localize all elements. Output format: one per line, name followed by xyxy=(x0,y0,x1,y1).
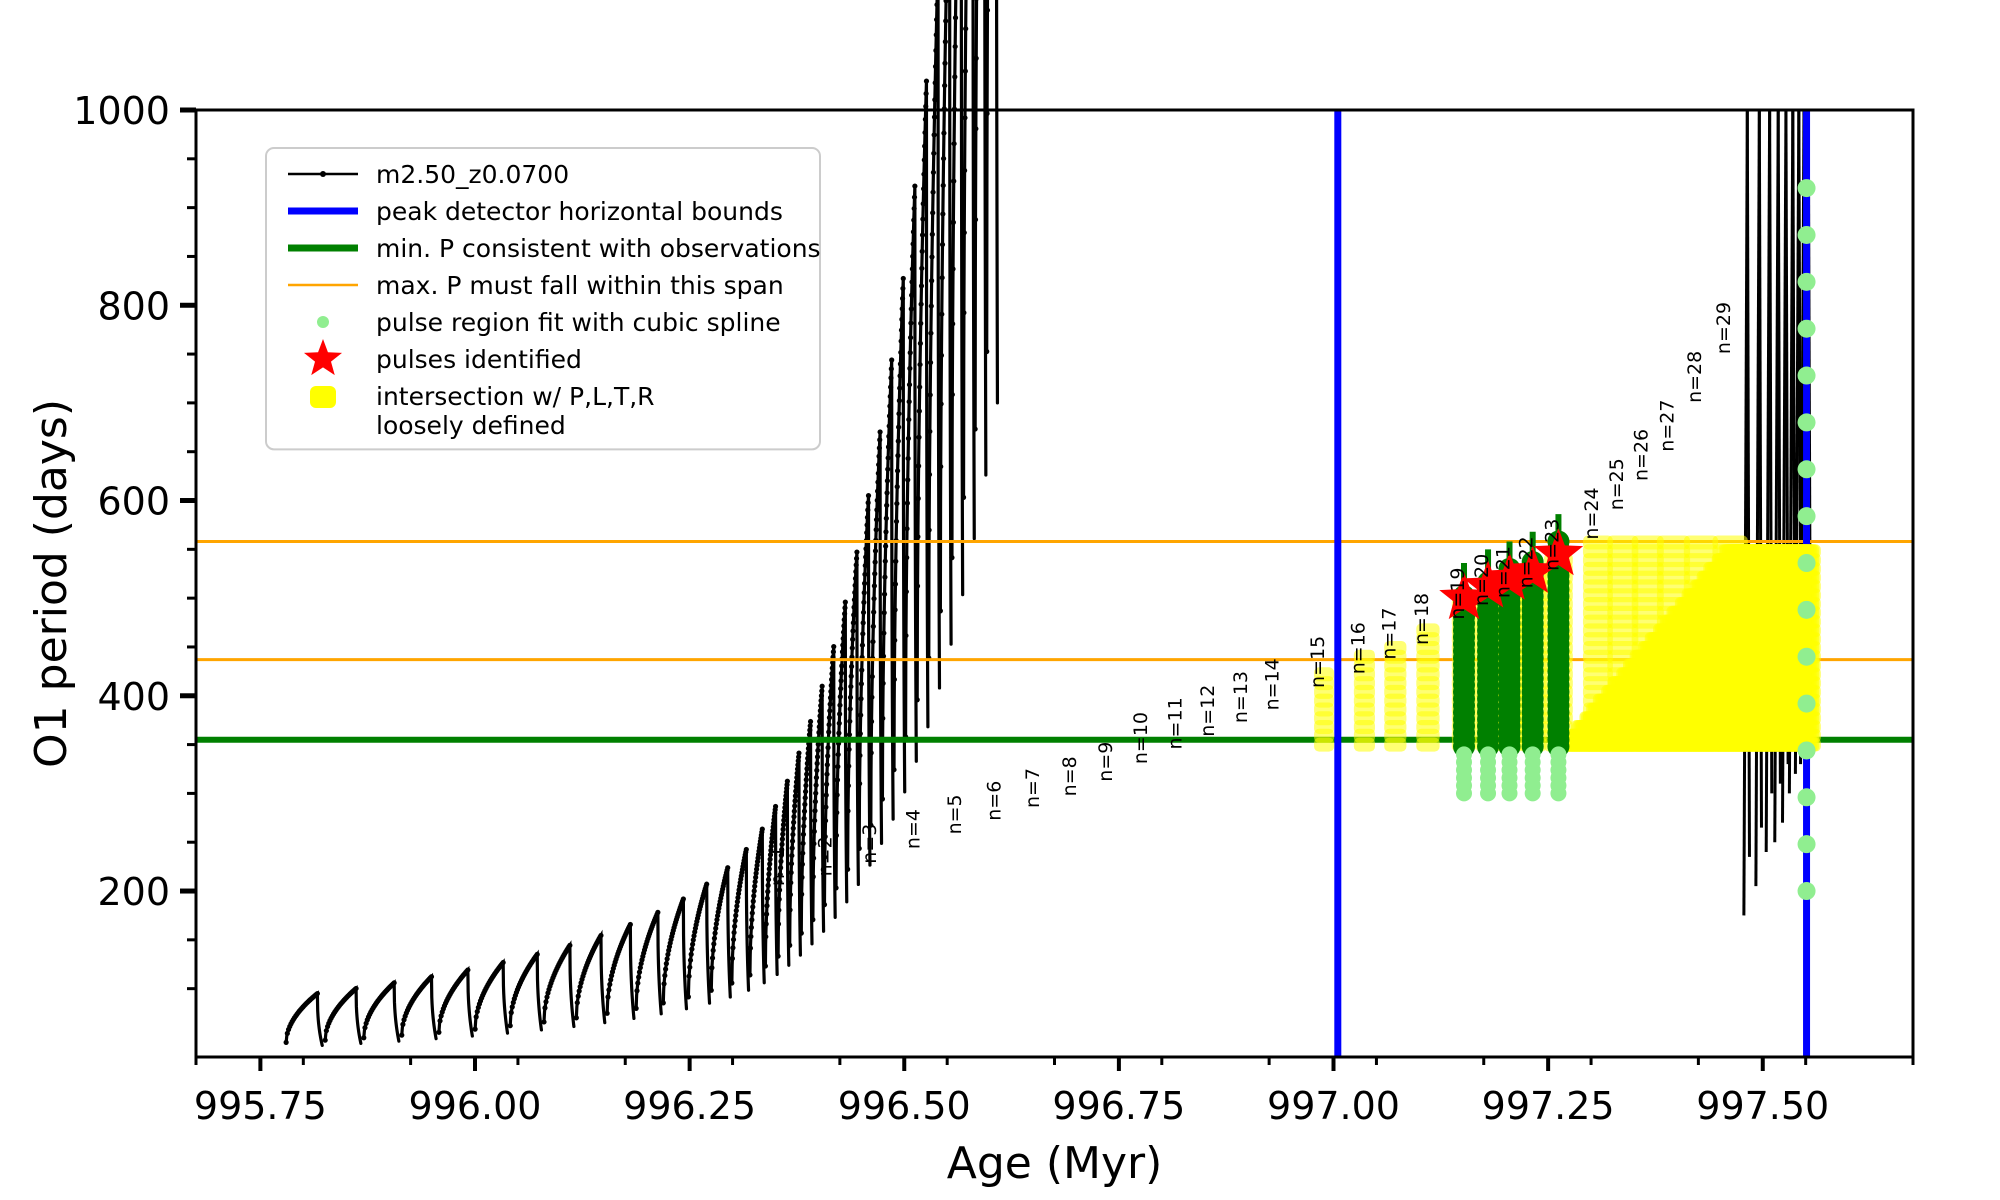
data-point-dot xyxy=(933,80,938,85)
y-axis-title: O1 period (days) xyxy=(26,399,77,768)
data-point-dot xyxy=(907,399,912,404)
data-point-dot xyxy=(823,818,828,823)
data-point-dot xyxy=(732,924,737,929)
data-point-dot xyxy=(984,111,989,116)
data-point-dot xyxy=(920,217,925,222)
data-point-dot xyxy=(853,569,858,574)
data-point-dot xyxy=(711,941,716,946)
spline-fit-point xyxy=(1798,835,1816,853)
data-point-dot xyxy=(846,763,851,768)
spline-fit-point xyxy=(1798,367,1816,385)
data-point-dot xyxy=(636,975,641,980)
data-point-dot xyxy=(853,583,858,588)
data-point-dot xyxy=(921,186,926,191)
data-point-dot xyxy=(909,306,914,311)
data-point-dot xyxy=(846,783,851,788)
data-point-dot xyxy=(838,694,843,699)
data-point-dot xyxy=(731,937,736,942)
spline-fit-point xyxy=(1798,554,1816,572)
data-point-dot xyxy=(763,963,768,968)
data-point-dot xyxy=(984,349,989,354)
data-point-dot xyxy=(881,654,886,659)
data-point-dot xyxy=(927,472,932,477)
data-point-dot xyxy=(930,210,935,215)
data-point-dot xyxy=(928,360,933,365)
data-point-dot xyxy=(710,955,715,960)
data-point-dot xyxy=(796,750,801,755)
data-point-dot xyxy=(763,934,768,939)
data-point-dot xyxy=(836,730,841,735)
data-point-dot xyxy=(876,471,881,476)
data-point-dot xyxy=(909,293,914,298)
data-point-dot xyxy=(951,220,956,225)
data-point-dot xyxy=(789,861,794,866)
data-point-dot xyxy=(843,600,848,605)
data-point-dot xyxy=(871,596,876,601)
chart-canvas: n=1n=2n=3n=4n=5n=6n=7n=8n=9n=10n=11n=12n… xyxy=(0,0,2000,1200)
data-point-dot xyxy=(898,350,903,355)
data-point-dot xyxy=(852,597,857,602)
pulse-number-label: n=25 xyxy=(1606,458,1628,510)
spline-fit-point xyxy=(1798,882,1816,900)
pulse-number-label: n=20 xyxy=(1471,554,1493,606)
data-point-dot xyxy=(962,230,967,235)
data-point-dot xyxy=(912,183,917,188)
data-point-dot xyxy=(800,851,805,856)
legend-label: max. P must fall within this span xyxy=(376,271,784,300)
data-point-dot xyxy=(916,496,921,501)
data-point-dot xyxy=(896,425,901,430)
data-point-dot xyxy=(961,495,966,500)
data-point-dot xyxy=(928,331,933,336)
data-point-dot xyxy=(928,392,933,397)
data-point-dot xyxy=(885,467,890,472)
data-point-dot xyxy=(875,480,880,485)
data-point-dot xyxy=(893,559,898,564)
data-point-dot xyxy=(896,411,901,416)
data-point-dot xyxy=(765,889,770,894)
data-point-dot xyxy=(917,362,922,367)
data-point-dot xyxy=(789,870,794,875)
data-point-dot xyxy=(859,668,864,673)
pulse-number-label: n=22 xyxy=(1516,536,1538,588)
data-point-dot xyxy=(924,91,929,96)
data-point-dot xyxy=(824,772,829,777)
data-point-dot xyxy=(880,716,885,721)
data-point-dot xyxy=(730,956,735,961)
data-point-dot xyxy=(910,254,915,259)
data-point-dot xyxy=(850,645,855,650)
data-point-dot xyxy=(733,913,738,918)
pulse-number-label: n=10 xyxy=(1130,712,1152,764)
data-point-dot xyxy=(861,600,866,605)
data-point-dot xyxy=(815,761,820,766)
data-point-dot xyxy=(900,306,905,311)
data-point-dot xyxy=(963,26,968,31)
data-point-dot xyxy=(776,921,781,926)
spline-fit-point xyxy=(1480,746,1496,762)
data-point-dot xyxy=(792,803,797,808)
data-point-dot xyxy=(943,39,948,44)
data-point-dot xyxy=(818,703,823,708)
data-point-dot xyxy=(883,559,888,564)
data-point-dot xyxy=(663,967,668,972)
x-tick-label: 997.00 xyxy=(1267,1084,1400,1128)
data-point-dot xyxy=(864,522,869,527)
data-point-dot xyxy=(858,731,863,736)
data-point-dot xyxy=(897,373,902,378)
spline-fit-point xyxy=(1798,788,1816,806)
data-point-dot xyxy=(598,933,603,938)
data-point-dot xyxy=(870,674,875,679)
data-point-dot xyxy=(884,503,889,508)
data-point-dot xyxy=(607,982,612,987)
data-point-dot xyxy=(950,321,955,326)
data-point-dot xyxy=(353,986,358,991)
data-point-dot xyxy=(634,1006,639,1011)
data-point-dot xyxy=(908,350,913,355)
pulse-number-label: n=2 xyxy=(814,836,836,876)
data-point-dot xyxy=(869,719,874,724)
data-point-dot xyxy=(943,18,948,23)
data-point-dot xyxy=(938,464,943,469)
data-point-dot xyxy=(793,789,798,794)
data-point-dot xyxy=(605,994,610,999)
data-point-dot xyxy=(752,884,757,889)
data-point-dot xyxy=(850,637,855,642)
data-point-dot xyxy=(806,746,811,751)
data-point-dot xyxy=(952,141,957,146)
data-point-dot xyxy=(938,608,943,613)
data-point-dot xyxy=(932,97,937,102)
data-point-dot xyxy=(792,809,797,814)
data-point-dot xyxy=(473,1027,478,1032)
data-point-dot xyxy=(882,592,887,597)
data-point-dot xyxy=(851,620,856,625)
pulse-number-label: n=16 xyxy=(1347,622,1369,674)
data-point-dot xyxy=(828,689,833,694)
data-point-dot xyxy=(839,663,844,668)
data-point-dot xyxy=(883,529,888,534)
data-point-dot xyxy=(840,649,845,654)
data-point-dot xyxy=(543,999,548,1004)
pulse-number-label: n=6 xyxy=(983,781,1005,821)
data-point-dot xyxy=(733,918,738,923)
data-point-dot xyxy=(729,980,734,985)
data-point-dot xyxy=(834,810,839,815)
data-point-dot xyxy=(567,943,572,948)
data-point-dot xyxy=(704,882,709,887)
pulse-number-label: n=14 xyxy=(1262,658,1284,710)
data-point-dot xyxy=(889,366,894,371)
data-point-dot xyxy=(542,1005,547,1010)
data-point-dot xyxy=(688,958,693,963)
spline-fit-point xyxy=(1798,695,1816,713)
data-point-dot xyxy=(905,456,910,461)
data-point-dot xyxy=(437,1018,442,1023)
data-point-dot xyxy=(792,798,797,803)
pulse-number-label: n=11 xyxy=(1165,697,1187,749)
data-point-dot xyxy=(922,157,927,162)
data-point-dot xyxy=(873,548,878,553)
legend-label: pulse region fit with cubic spline xyxy=(376,308,781,337)
data-point-dot xyxy=(875,498,880,503)
data-point-dot xyxy=(712,931,717,936)
data-point-dot xyxy=(819,688,824,693)
data-point-dot xyxy=(804,766,809,771)
data-point-dot xyxy=(912,206,917,211)
data-point-dot xyxy=(764,921,769,926)
data-point-dot xyxy=(885,478,890,483)
data-point-dot xyxy=(919,283,924,288)
data-point-dot xyxy=(794,784,799,789)
data-point-dot xyxy=(837,721,842,726)
data-point-dot xyxy=(827,715,832,720)
data-point-dot xyxy=(887,423,892,428)
data-point-dot xyxy=(863,554,868,559)
data-point-dot xyxy=(776,907,781,912)
data-point-dot xyxy=(864,530,869,535)
data-point-dot xyxy=(916,463,921,468)
data-point-dot xyxy=(866,493,871,498)
data-point-dot xyxy=(825,762,830,767)
data-point-dot xyxy=(574,1015,579,1020)
data-point-dot xyxy=(835,792,840,797)
data-point-dot xyxy=(790,839,795,844)
x-tick-label: 996.00 xyxy=(409,1084,542,1128)
legend-label: min. P consistent with observations xyxy=(376,234,821,263)
x-axis-title: Age (Myr) xyxy=(947,1138,1163,1189)
data-point-dot xyxy=(872,583,877,588)
data-point-dot xyxy=(869,695,874,700)
data-point-dot xyxy=(734,908,739,913)
data-point-dot xyxy=(912,195,917,200)
data-point-dot xyxy=(436,1030,441,1035)
spline-fit-point xyxy=(1798,320,1816,338)
data-point-dot xyxy=(576,994,581,999)
x-tick-label: 996.50 xyxy=(838,1084,971,1128)
data-point-dot xyxy=(749,925,754,930)
data-point-dot xyxy=(575,1000,580,1005)
pulse-number-label: n=21 xyxy=(1493,546,1515,598)
y-tick-label: 800 xyxy=(97,284,170,328)
data-point-dot xyxy=(901,276,906,281)
data-point-dot xyxy=(315,991,320,996)
data-point-dot xyxy=(535,952,540,957)
data-point-dot xyxy=(803,795,808,800)
data-point-dot xyxy=(776,954,781,959)
data-point-dot xyxy=(953,44,958,49)
spline-fit-point xyxy=(1798,273,1816,291)
data-point-dot xyxy=(824,782,829,787)
data-point-dot xyxy=(900,286,905,291)
data-point-dot xyxy=(836,752,841,757)
data-point-dot xyxy=(689,952,694,957)
spline-fit-point xyxy=(1798,741,1816,759)
data-point-dot xyxy=(794,779,799,784)
data-point-dot xyxy=(828,702,833,707)
data-point-dot xyxy=(906,417,911,422)
data-point-dot xyxy=(501,960,506,965)
data-point-dot xyxy=(884,516,889,521)
data-point-dot xyxy=(841,636,846,641)
data-point-dot xyxy=(750,910,755,915)
data-point-dot xyxy=(934,32,939,37)
data-point-dot xyxy=(791,820,796,825)
y-tick-label: 400 xyxy=(97,675,170,719)
data-point-dot xyxy=(922,144,927,149)
data-point-dot xyxy=(940,275,945,280)
data-point-dot xyxy=(813,799,818,804)
data-point-dot xyxy=(909,279,914,284)
pulse-number-label: n=27 xyxy=(1656,400,1678,452)
data-point-dot xyxy=(877,437,882,442)
data-point-dot xyxy=(941,156,946,161)
legend-swatch-square xyxy=(310,386,336,408)
data-point-dot xyxy=(362,1025,367,1030)
data-point-dot xyxy=(803,789,808,794)
data-point-dot xyxy=(801,832,806,837)
data-point-dot xyxy=(905,477,910,482)
data-point-dot xyxy=(893,582,898,587)
data-point-dot xyxy=(845,808,850,813)
data-point-dot xyxy=(872,571,877,576)
data-point-dot xyxy=(842,617,847,622)
data-point-dot xyxy=(886,455,891,460)
data-point-dot xyxy=(859,681,864,686)
data-point-dot xyxy=(863,563,868,568)
data-point-dot xyxy=(686,994,691,999)
data-point-dot xyxy=(899,317,904,322)
data-point-dot xyxy=(781,822,786,827)
data-point-dot xyxy=(930,190,935,195)
pulse-number-label: n=1 xyxy=(767,846,789,886)
data-point-dot xyxy=(799,875,804,880)
data-point-dot xyxy=(923,104,928,109)
data-point-dot xyxy=(777,897,782,902)
data-point-dot xyxy=(918,341,923,346)
data-point-dot xyxy=(900,296,905,301)
data-point-dot xyxy=(887,404,892,409)
data-point-dot xyxy=(827,708,832,713)
data-point-dot xyxy=(869,750,874,755)
data-point-dot xyxy=(895,484,900,489)
data-point-dot xyxy=(822,902,827,907)
data-point-dot xyxy=(915,534,920,539)
data-point-dot xyxy=(915,697,920,702)
data-point-dot xyxy=(838,686,843,691)
data-point-dot xyxy=(949,555,954,560)
data-point-dot xyxy=(686,974,691,979)
data-point-dot xyxy=(817,713,822,718)
data-point-dot xyxy=(941,131,946,136)
data-point-dot xyxy=(841,623,846,628)
pulse-number-label: n=23 xyxy=(1541,519,1563,571)
data-point-dot xyxy=(892,677,897,682)
pulse-number-label: n=15 xyxy=(1307,636,1329,688)
data-point-dot xyxy=(903,633,908,638)
data-point-dot xyxy=(824,793,829,798)
legend-label: intersection w/ P,L,T,R xyxy=(376,382,655,411)
data-point-dot xyxy=(874,527,879,532)
data-point-dot xyxy=(744,847,749,852)
data-point-dot xyxy=(847,719,852,724)
data-point-dot xyxy=(920,232,925,237)
data-point-dot xyxy=(974,56,979,61)
data-point-dot xyxy=(861,620,866,625)
data-point-dot xyxy=(829,677,834,682)
x-tick-label: 995.75 xyxy=(194,1084,327,1128)
legend: m2.50_z0.0700peak detector horizontal bo… xyxy=(266,148,821,449)
data-point-dot xyxy=(606,987,611,992)
data-point-dot xyxy=(939,312,944,317)
data-point-dot xyxy=(865,515,870,520)
data-point-dot xyxy=(911,229,916,234)
data-point-dot xyxy=(284,1040,289,1045)
data-point-dot xyxy=(764,903,769,908)
data-point-dot xyxy=(687,965,692,970)
data-point-dot xyxy=(837,711,842,716)
spline-fit-point xyxy=(1456,746,1472,762)
data-point-dot xyxy=(465,967,470,972)
data-point-dot xyxy=(931,170,936,175)
data-point-dot xyxy=(942,61,947,66)
data-point-dot xyxy=(886,434,891,439)
data-point-dot xyxy=(831,649,836,654)
data-point-dot xyxy=(807,732,812,737)
legend-swatch-dot xyxy=(320,171,326,177)
data-point-dot xyxy=(877,445,882,450)
data-point-dot xyxy=(891,767,896,772)
data-point-dot xyxy=(950,266,955,271)
data-point-dot xyxy=(400,1022,405,1027)
data-point-dot xyxy=(839,671,844,676)
data-point-dot xyxy=(963,69,968,74)
y-tick-label: 600 xyxy=(97,480,170,524)
data-point-dot xyxy=(854,556,859,561)
data-point-dot xyxy=(748,934,753,939)
data-point-dot xyxy=(361,1035,366,1040)
data-point-dot xyxy=(849,664,854,669)
legend-label: loosely defined xyxy=(376,411,566,440)
data-point-dot xyxy=(865,507,870,512)
data-point-dot xyxy=(878,429,883,434)
y-tick-label: 1000 xyxy=(73,89,170,133)
data-point-dot xyxy=(876,454,881,459)
data-point-dot xyxy=(883,544,888,549)
data-point-dot xyxy=(904,555,909,560)
data-point-dot xyxy=(634,988,639,993)
data-point-dot xyxy=(927,527,932,532)
data-point-dot xyxy=(510,1004,515,1009)
data-point-dot xyxy=(780,837,785,842)
data-point-dot xyxy=(833,885,838,890)
data-point-dot xyxy=(889,357,894,362)
data-point-dot xyxy=(829,671,834,676)
data-point-dot xyxy=(861,610,866,615)
data-point-dot xyxy=(888,375,893,380)
data-point-dot xyxy=(866,500,871,505)
data-point-dot xyxy=(793,793,798,798)
data-point-dot xyxy=(918,321,923,326)
data-point-dot xyxy=(985,8,990,13)
pulse-number-label: n=3 xyxy=(859,824,881,864)
data-point-dot xyxy=(827,722,832,727)
pulse-number-label: n=5 xyxy=(944,794,966,834)
data-point-dot xyxy=(730,945,735,950)
data-point-dot xyxy=(904,526,909,531)
data-point-dot xyxy=(838,678,843,683)
